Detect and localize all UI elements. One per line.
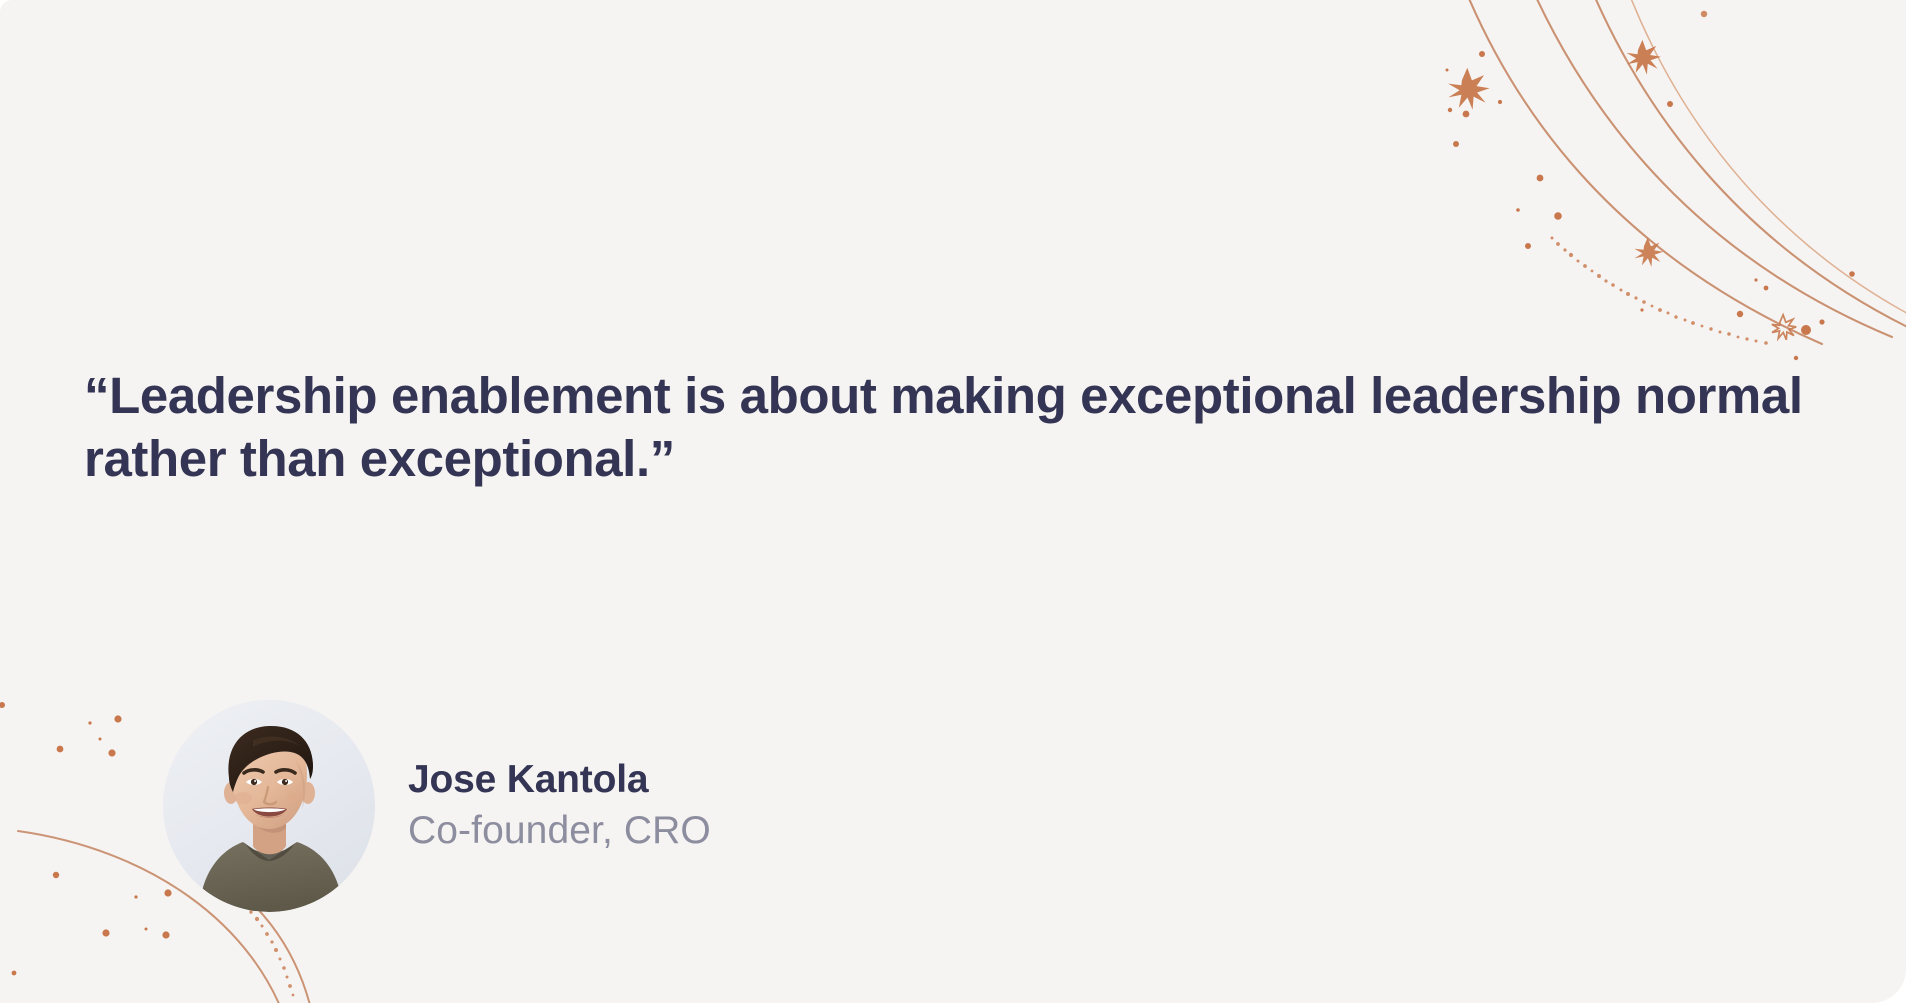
avatar bbox=[163, 700, 375, 912]
avatar-portrait-icon bbox=[163, 700, 375, 912]
attribution-block: Jose Kantola Co-founder, CRO bbox=[163, 700, 711, 912]
testimonial-card: “Leadership enablement is about making e… bbox=[0, 0, 1906, 1003]
quote-text: “Leadership enablement is about making e… bbox=[84, 364, 1874, 490]
person-role: Co-founder, CRO bbox=[408, 805, 711, 857]
orbital-arcs-sparkles-top-right-icon bbox=[1352, 0, 1906, 412]
attribution-text: Jose Kantola Co-founder, CRO bbox=[408, 755, 711, 857]
person-name: Jose Kantola bbox=[408, 755, 711, 805]
